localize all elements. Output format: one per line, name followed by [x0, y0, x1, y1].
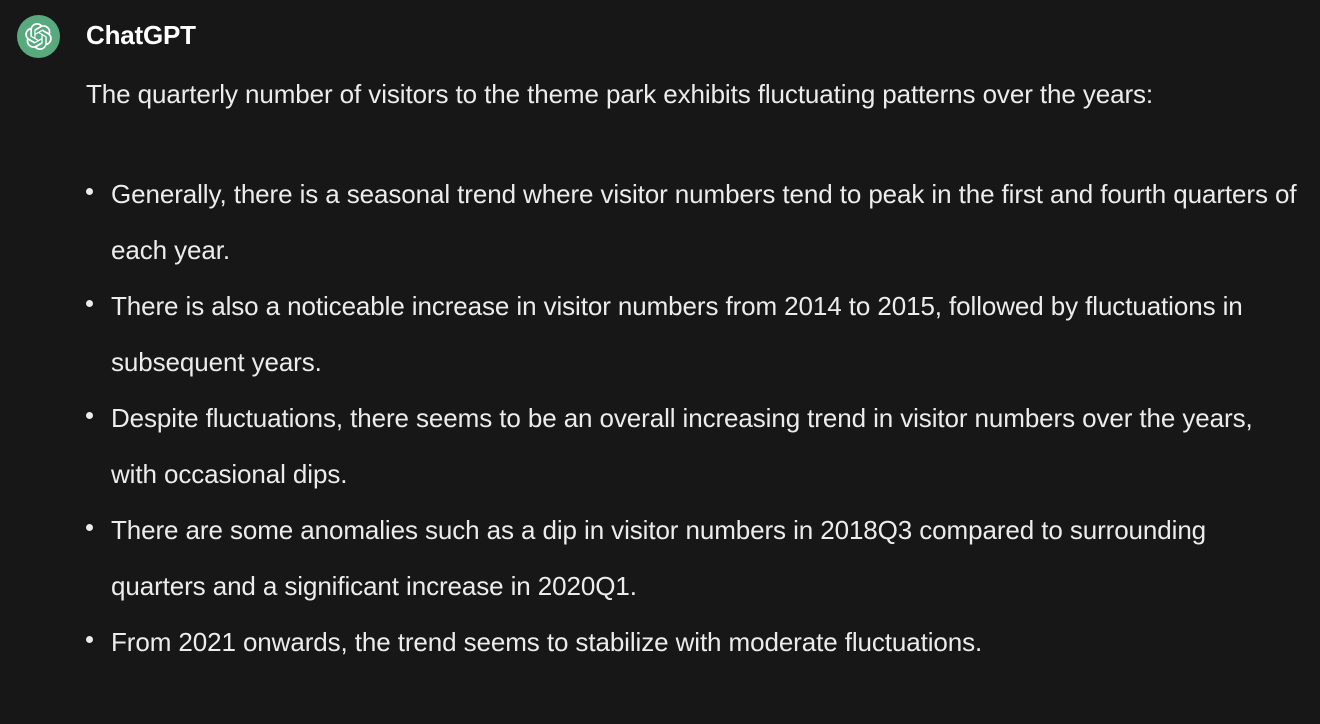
bullet-dot-icon [86, 412, 93, 419]
list-item-text: There is also a noticeable increase in v… [111, 291, 1243, 377]
bullet-dot-icon [86, 636, 93, 643]
message-body: The quarterly number of visitors to the … [86, 66, 1306, 670]
message-author-name: ChatGPT [86, 18, 196, 52]
list-item-text: Generally, there is a seasonal trend whe… [111, 179, 1296, 265]
insights-list: Generally, there is a seasonal trend whe… [86, 166, 1306, 670]
bullet-dot-icon [86, 300, 93, 307]
openai-logo-icon [17, 15, 60, 58]
list-item: Despite fluctuations, there seems to be … [86, 390, 1301, 502]
list-item-text: There are some anomalies such as a dip i… [111, 515, 1206, 601]
list-item: There is also a noticeable increase in v… [86, 278, 1301, 390]
list-item-text: From 2021 onwards, the trend seems to st… [111, 627, 982, 657]
assistant-message: ChatGPT The quarterly number of visitors… [0, 0, 1320, 724]
bullet-dot-icon [86, 188, 93, 195]
intro-paragraph: The quarterly number of visitors to the … [86, 66, 1281, 122]
list-item-text: Despite fluctuations, there seems to be … [111, 403, 1253, 489]
list-item: From 2021 onwards, the trend seems to st… [86, 614, 1301, 670]
list-item: There are some anomalies such as a dip i… [86, 502, 1301, 614]
bullet-dot-icon [86, 524, 93, 531]
list-item: Generally, there is a seasonal trend whe… [86, 166, 1301, 278]
